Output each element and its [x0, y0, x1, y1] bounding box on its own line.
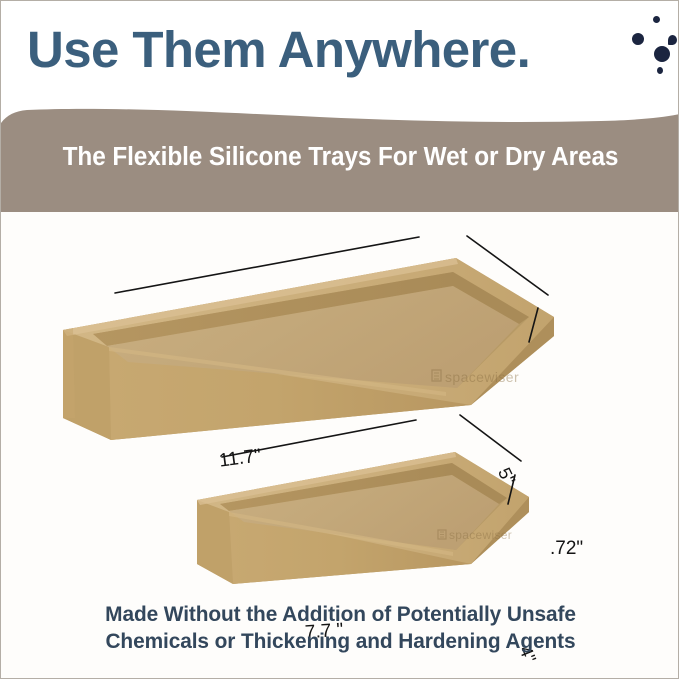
droplet-dot: [668, 35, 677, 45]
svg-text:spacewiser: spacewiser: [445, 369, 519, 385]
footer-claim: Made Without the Addition of Potentially…: [1, 601, 679, 655]
footer-claim-line-2: Chemicals or Thickening and Hardening Ag…: [11, 628, 670, 655]
water-droplet-dots-icon: [612, 9, 674, 79]
footer-claim-line-1: Made Without the Addition of Potentially…: [11, 601, 670, 628]
droplet-dot: [632, 33, 644, 45]
small-silicone-tray: spacewiser: [197, 415, 529, 584]
droplet-dot: [657, 67, 663, 74]
svg-text:spacewiser: spacewiser: [449, 528, 512, 542]
page-title: Use Them Anywhere.: [27, 21, 530, 80]
infographic-canvas: Use Them Anywhere. The Flexible Silicone…: [0, 0, 679, 679]
banner-subtitle: The Flexible Silicone Trays For Wet or D…: [16, 143, 664, 172]
brand-emboss-large: spacewiser: [432, 369, 519, 385]
droplet-dot: [653, 16, 660, 23]
large-silicone-tray: spacewiser: [63, 236, 554, 440]
large-tray-height-label: .72": [550, 538, 583, 560]
droplet-dot: [654, 46, 670, 62]
subtitle-banner: The Flexible Silicone Trays For Wet or D…: [1, 97, 679, 213]
brand-emboss-small: spacewiser: [438, 528, 512, 542]
